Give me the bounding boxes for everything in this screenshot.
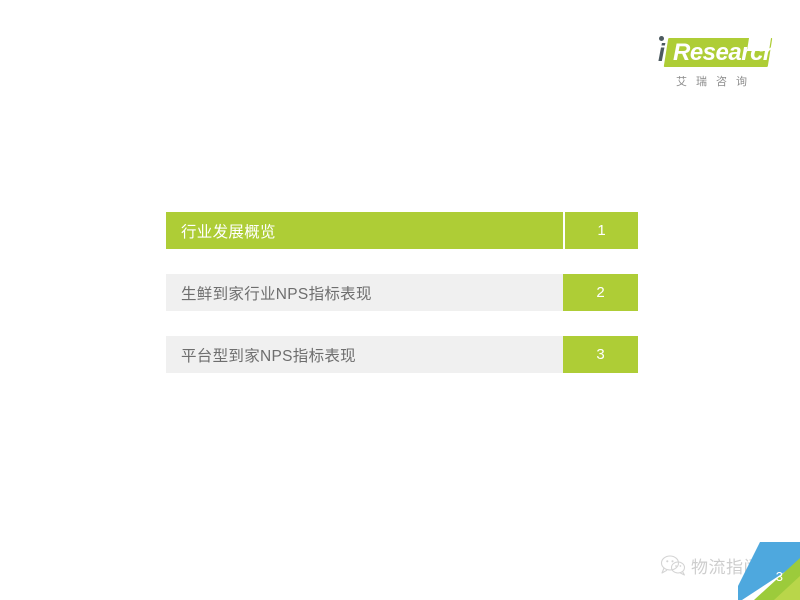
logo-subtitle-cn: 艾瑞咨询: [661, 73, 771, 89]
agenda-item-2[interactable]: 生鲜到家行业NPS指标表现 2: [166, 274, 638, 311]
corner-decoration: [738, 542, 800, 600]
iresearch-logo: i Research 艾瑞咨询: [652, 36, 772, 94]
logo-letter-i: i: [658, 40, 665, 66]
agenda-item-3[interactable]: 平台型到家NPS指标表现 3: [166, 336, 638, 373]
wechat-icon: [660, 554, 686, 576]
agenda-item-1-label: 行业发展概览: [166, 212, 563, 249]
logo-wordmark: Research: [673, 39, 777, 67]
logo-mark: i Research: [652, 36, 772, 70]
slide-canvas: i Research 艾瑞咨询 行业发展概览 1 生鲜到家行业NPS指标表现 2…: [0, 0, 800, 600]
agenda-item-2-label: 生鲜到家行业NPS指标表现: [166, 274, 563, 311]
agenda-item-2-number: 2: [563, 274, 638, 311]
agenda-list: 行业发展概览 1 生鲜到家行业NPS指标表现 2 平台型到家NPS指标表现 3: [166, 212, 638, 373]
agenda-item-1-number: 1: [563, 212, 638, 249]
agenda-item-1[interactable]: 行业发展概览 1: [166, 212, 638, 249]
agenda-item-3-number: 3: [563, 336, 638, 373]
agenda-item-3-label: 平台型到家NPS指标表现: [166, 336, 563, 373]
page-number: 3: [776, 569, 783, 584]
